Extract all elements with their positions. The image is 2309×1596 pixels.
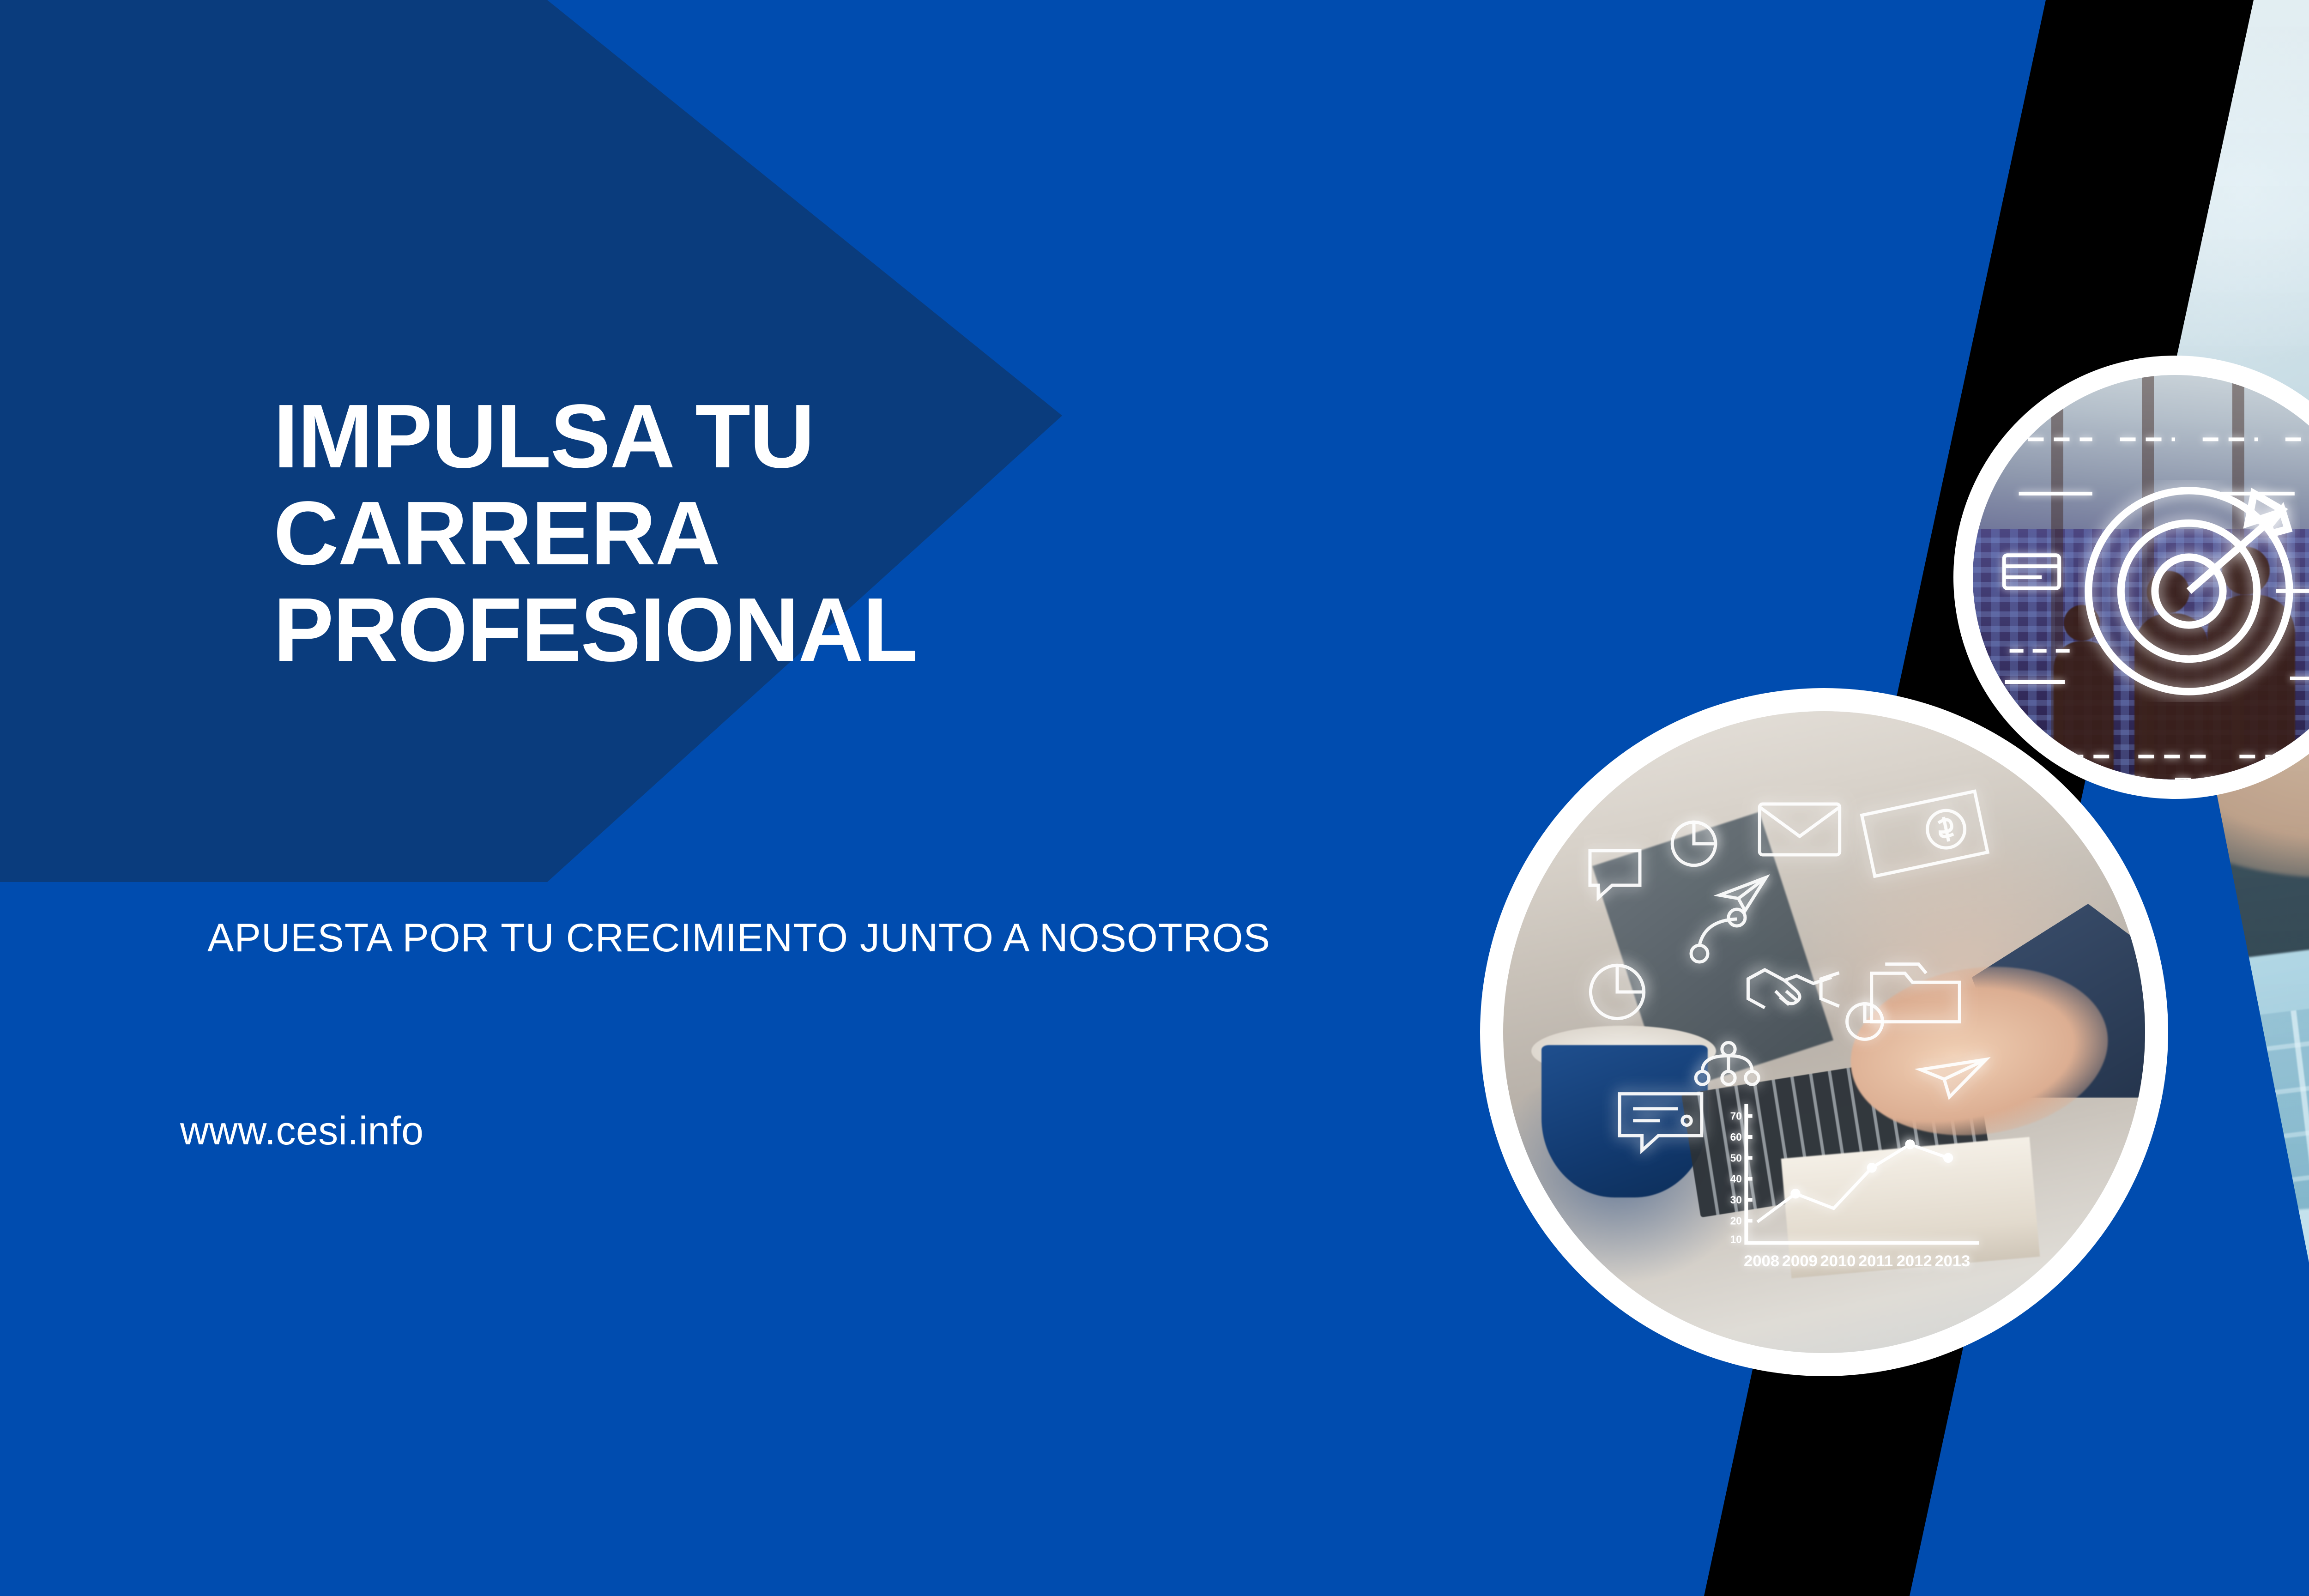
chart-xtick: 2008 xyxy=(1744,1252,1779,1270)
speech-bubble-icon xyxy=(1580,840,1650,909)
network-nodes-icon xyxy=(1689,1032,1768,1097)
chart-ytick: 10 xyxy=(1730,1233,1741,1245)
chart-xtick: 2010 xyxy=(1820,1252,1856,1270)
subtitle: APUESTA POR TU CRECIMIENTO JUNTO A NOSOT… xyxy=(139,912,1339,965)
headline-line-1: IMPULSA TU xyxy=(273,388,1474,485)
chart-ytick: 50 xyxy=(1730,1152,1741,1164)
chart-ytick: 30 xyxy=(1730,1194,1741,1206)
chart-xtick: 2011 xyxy=(1858,1252,1893,1270)
pie-chart-icon xyxy=(1664,814,1724,874)
pie-chart-icon xyxy=(1580,955,1654,1029)
headline-line-2: CARRERA xyxy=(273,485,1474,582)
headline-line-3: PROFESIONAL xyxy=(273,581,1474,678)
pie-chart-icon xyxy=(1837,994,1892,1049)
chart-xtick: 2012 xyxy=(1896,1252,1932,1270)
chart-xtick: 2009 xyxy=(1782,1252,1817,1270)
circle-image-laptop-icons: 70 60 50 40 30 20 10 2008 2009 2010 2011… xyxy=(1503,711,2145,1353)
website-url[interactable]: www.cesi.info xyxy=(180,1108,423,1154)
envelope-icon xyxy=(1753,795,1846,864)
chart-ytick: 60 xyxy=(1730,1131,1741,1143)
chart-ytick: 40 xyxy=(1730,1173,1741,1185)
handshake-icon xyxy=(1741,949,1847,1032)
target-icon xyxy=(2078,480,2300,702)
chart-xtick: 2013 xyxy=(1934,1252,1970,1270)
chart-ytick: 70 xyxy=(1730,1110,1741,1122)
line-chart: 70 60 50 40 30 20 10 2008 2009 2010 2011… xyxy=(1722,1096,1980,1281)
headline: IMPULSA TU CARRERA PROFESIONAL xyxy=(273,388,1474,678)
promotional-banner: 70 60 50 40 30 20 10 2008 2009 2010 2011… xyxy=(0,0,2309,1596)
chart-ytick: 20 xyxy=(1730,1215,1741,1227)
